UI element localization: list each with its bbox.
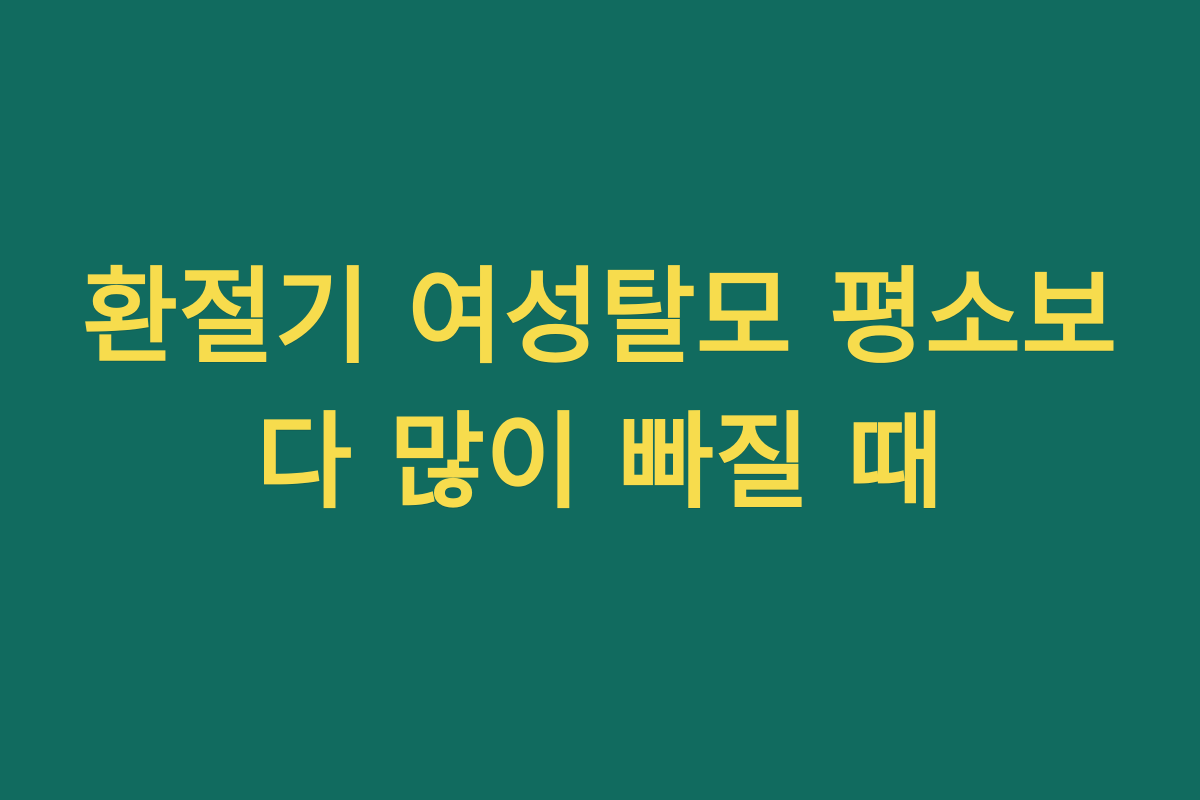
headline-line-1: 환절기 여성탈모 평소보	[82, 245, 1117, 390]
headline-line-2: 다 많이 빠질 때	[256, 390, 943, 535]
text-banner: 환절기 여성탈모 평소보 다 많이 빠질 때	[0, 0, 1200, 800]
headline-block: 환절기 여성탈모 평소보 다 많이 빠질 때	[0, 245, 1200, 535]
